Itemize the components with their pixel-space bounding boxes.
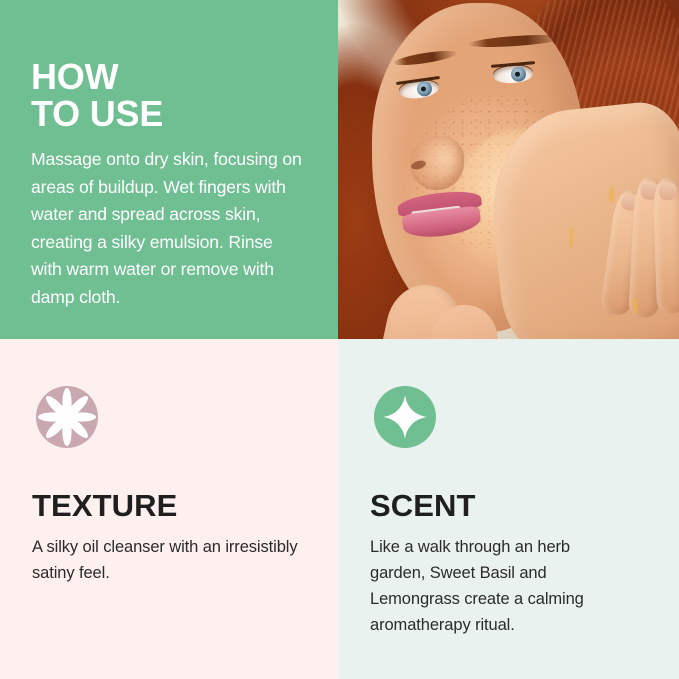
model-finger-3: [652, 178, 679, 314]
model-photo: [338, 0, 679, 339]
how-to-use-body: Massage onto dry skin, focusing on areas…: [31, 146, 303, 311]
bottom-row: TEXTURE A silky oil cleanser with an irr…: [0, 339, 679, 679]
texture-body: A silky oil cleanser with an irresistibl…: [32, 534, 300, 586]
how-to-use-panel: HOW TO USE Massage onto dry skin, focusi…: [0, 0, 338, 339]
sparkle-icon: [374, 386, 436, 448]
texture-panel: TEXTURE A silky oil cleanser with an irr…: [0, 339, 338, 679]
scent-panel: SCENT Like a walk through an herb garden…: [338, 339, 679, 679]
how-to-use-title: HOW TO USE: [31, 58, 304, 132]
photo-stage: [338, 0, 679, 339]
scent-body: Like a walk through an herb garden, Swee…: [370, 534, 628, 638]
flower-icon: [36, 386, 98, 448]
scent-title: SCENT: [370, 489, 649, 522]
model-nail-3: [658, 182, 676, 200]
model-iris-left: [416, 81, 433, 98]
product-infographic: HOW TO USE Massage onto dry skin, focusi…: [0, 0, 679, 679]
model-iris-right: [510, 66, 526, 82]
texture-title: TEXTURE: [32, 489, 308, 522]
top-row: HOW TO USE Massage onto dry skin, focusi…: [0, 0, 679, 339]
